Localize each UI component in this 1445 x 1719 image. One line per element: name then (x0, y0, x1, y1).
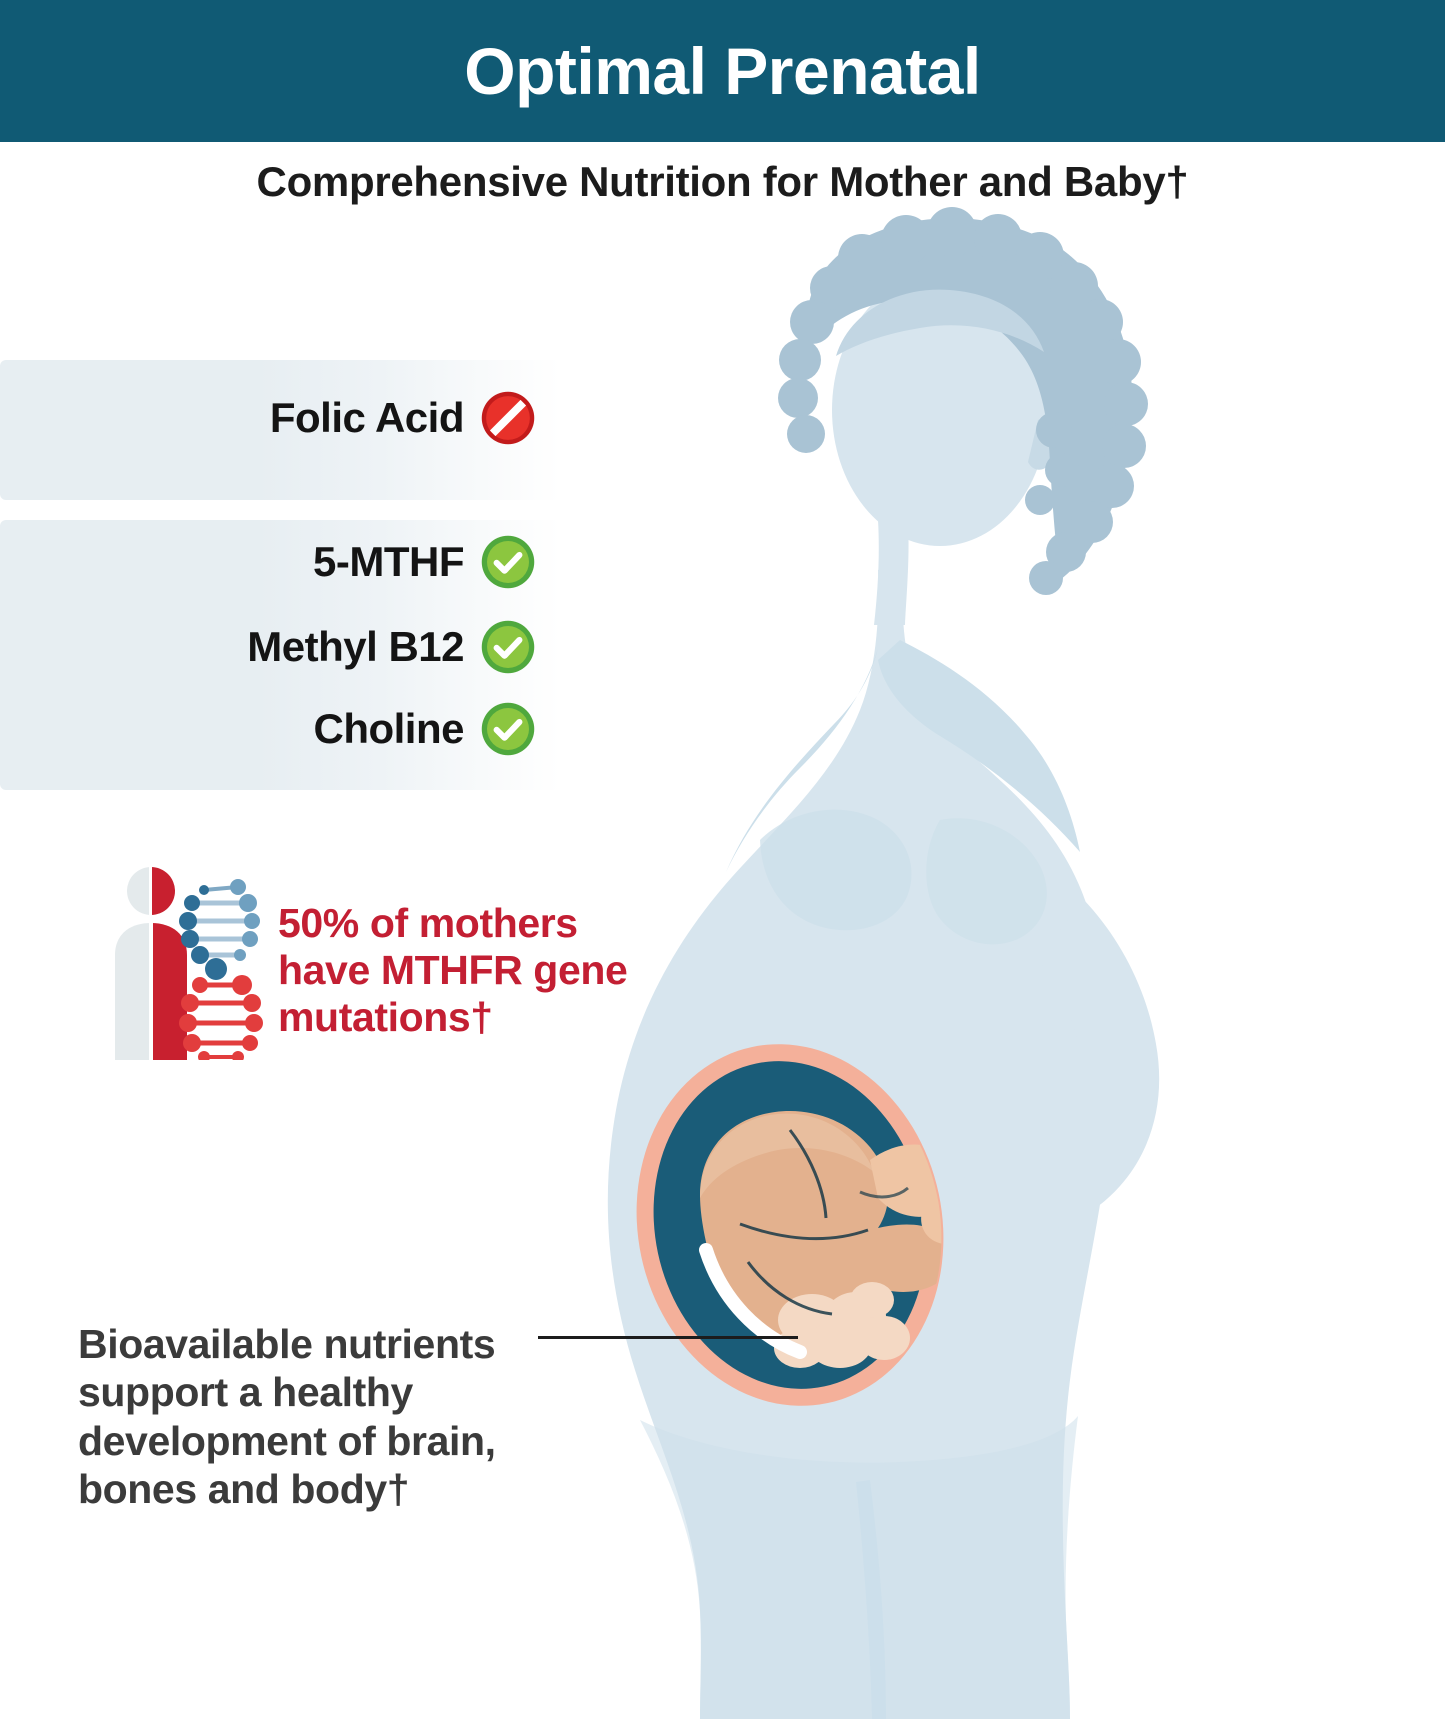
nutrient-row-folic-acid: Folic Acid (0, 386, 536, 450)
nutrient-row-5-mthf: 5-MTHF (0, 530, 536, 594)
bottom-caption-line-4: bones and body† (78, 1465, 598, 1513)
page-title: Optimal Prenatal (464, 38, 981, 104)
mthfr-stat-line-2: have MTHFR gene (278, 947, 708, 994)
mthfr-stat-line-3: mutations† (278, 994, 708, 1041)
prohibition-icon (480, 390, 536, 446)
dna-helix (179, 879, 263, 1060)
person-glyph (115, 867, 187, 1060)
nutrient-label-5-mthf: 5-MTHF (313, 538, 464, 586)
nutrient-label-methyl-b12: Methyl B12 (247, 623, 464, 671)
bottom-caption: Bioavailable nutrients support a healthy… (78, 1320, 598, 1514)
hair (778, 207, 1148, 595)
subtitle: Comprehensive Nutrition for Mother and B… (0, 142, 1445, 222)
check-circle-icon (480, 701, 536, 757)
bottom-caption-line-1: Bioavailable nutrients (78, 1320, 598, 1368)
nutrient-row-methyl-b12: Methyl B12 (0, 615, 536, 679)
bottom-caption-line-3: development of brain, (78, 1417, 598, 1465)
check-circle-icon (480, 534, 536, 590)
bottom-caption-line-2: support a healthy (78, 1368, 598, 1416)
check-circle-icon (480, 619, 536, 675)
person-dna-icon (96, 845, 266, 1060)
nutrient-row-choline: Choline (0, 697, 536, 761)
mthfr-stat-block: 50% of mothers have MTHFR gene mutations… (96, 845, 716, 1075)
header-band: Optimal Prenatal (0, 0, 1445, 142)
womb-with-fetus (603, 1015, 976, 1434)
nutrient-label-folic-acid: Folic Acid (270, 394, 464, 442)
nutrient-label-choline: Choline (314, 705, 465, 753)
mthfr-stat-line-1: 50% of mothers (278, 900, 708, 947)
mthfr-stat-text: 50% of mothers have MTHFR gene mutations… (278, 900, 708, 1041)
infographic-root: Optimal Prenatal Comprehensive Nutrition… (0, 0, 1445, 1719)
